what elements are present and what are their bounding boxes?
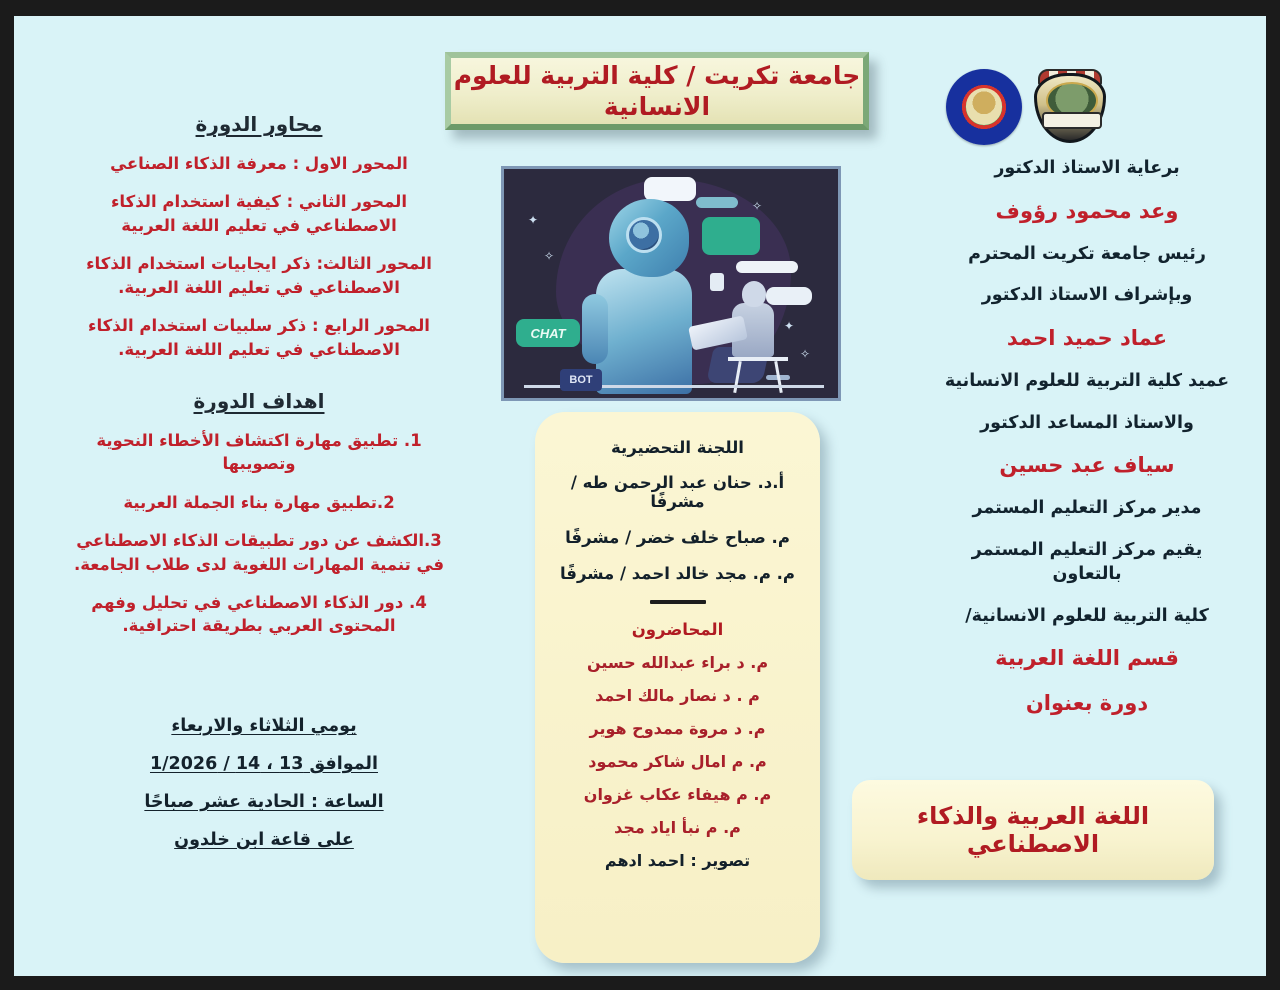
photo-credit: تصوير : احمد ادهم: [551, 851, 804, 870]
lecturer-item: م . د نصار مالك احمد: [551, 686, 804, 705]
committee-member: م. م. مجد خالد احمد / مشرفًا: [551, 564, 804, 583]
objectives-title: اهداف الدورة: [64, 389, 454, 413]
schedule-days: يومي الثلاثاء والاربعاء: [134, 716, 394, 736]
ministry-shield-emblem-icon: [1028, 67, 1112, 147]
right-column: برعاية الاستاذ الدكتور وعد محمود رؤوف رئ…: [942, 156, 1232, 734]
schedule-date: الموافق 13 ، 14 / 1/2026: [134, 754, 394, 774]
assistant-prefix: والاستاذ المساعد الدكتور: [942, 411, 1232, 436]
lecturer-item: م. م امال شاكر محمود: [551, 752, 804, 771]
course-label: دورة بعنوان: [942, 690, 1232, 717]
lecturers-heading: المحاضرون: [551, 620, 804, 639]
course-title-banner: اللغة العربية والذكاء الاصطناعي: [852, 780, 1214, 880]
topic-item: المحور الثالث: ذكر ايجابيات استخدام الذك…: [64, 252, 454, 299]
department-line: قسم اللغة العربية: [942, 645, 1232, 672]
objective-item: 1. تطبيق مهارة اكتشاف الأخطاء النحوية وت…: [64, 429, 454, 476]
college-line: كلية التربية للعلوم الانسانية/: [942, 604, 1232, 629]
header-banner-text: جامعة تكريت / كلية التربية للعلوم الانسا…: [451, 60, 863, 123]
schedule-venue: على قاعة ابن خلدون: [134, 830, 394, 850]
course-title-text: اللغة العربية والذكاء الاصطناعي: [852, 802, 1214, 858]
committee-member: أ.د. حنان عبد الرحمن طه / مشرفًا: [551, 473, 804, 511]
supervisor-prefix: وبإشراف الاستاذ الدكتور: [942, 283, 1232, 308]
ai-chatbot-illustration: ✦ ✧ ✧ ✦ ✧ · CHAT BOT: [501, 166, 841, 401]
poster-frame: جامعة تكريت / كلية التربية للعلوم الانسا…: [0, 0, 1280, 990]
topic-item: المحور الاول : معرفة الذكاء الصناعي: [64, 152, 454, 175]
patron-name: وعد محمود رؤوف: [942, 198, 1232, 225]
objective-item: 3.الكشف عن دور تطبيقات الذكاء الاصطناعي …: [64, 529, 454, 576]
lecturer-item: م. د مروة ممدوح هوير: [551, 719, 804, 738]
topics-title: محاور الدورة: [64, 112, 454, 136]
tikrit-university-emblem-icon: [946, 69, 1022, 145]
patron-prefix: برعاية الاستاذ الدكتور: [942, 156, 1232, 181]
schedule-time: الساعة : الحادية عشر صباحًا: [134, 792, 394, 812]
patron-role: رئيس جامعة تكريت المحترم: [942, 242, 1232, 267]
lecturer-item: م. د براء عبدالله حسين: [551, 653, 804, 672]
assistant-role: مدير مركز التعليم المستمر: [942, 496, 1232, 521]
logo-group: [937, 64, 1112, 149]
committee-member: م. صباح خلف خضر / مشرفًا: [551, 528, 804, 547]
lecturer-item: م. م هيفاء عكاب غزوان: [551, 785, 804, 804]
bot-label: BOT: [560, 369, 602, 391]
left-column: محاور الدورة المحور الاول : معرفة الذكاء…: [64, 112, 454, 653]
topic-item: المحور الثاني : كيفية استخدام الذكاء الا…: [64, 190, 454, 237]
objective-item: 4. دور الذكاء الاصطناعي في تحليل وفهم ال…: [64, 591, 454, 638]
schedule-block: يومي الثلاثاء والاربعاء الموافق 13 ، 14 …: [134, 716, 394, 868]
lecturer-item: م. م نبأ اياد مجد: [551, 818, 804, 837]
supervisor-name: عماد حميد احمد: [942, 325, 1232, 352]
committee-card: اللجنة التحضيرية أ.د. حنان عبد الرحمن طه…: [535, 412, 820, 963]
header-banner: جامعة تكريت / كلية التربية للعلوم الانسا…: [445, 52, 869, 130]
topic-item: المحور الرابع : ذكر سلبيات استخدام الذكا…: [64, 314, 454, 361]
objective-item: 2.تطبيق مهارة بناء الجملة العربية: [64, 491, 454, 514]
chat-label: CHAT: [516, 319, 580, 347]
poster-canvas: جامعة تكريت / كلية التربية للعلوم الانسا…: [14, 16, 1266, 976]
committee-heading: اللجنة التحضيرية: [551, 438, 804, 457]
organizer-line: يقيم مركز التعليم المستمر بالتعاون: [942, 538, 1232, 587]
supervisor-role: عميد كلية التربية للعلوم الانسانية: [942, 369, 1232, 394]
section-divider: [650, 600, 706, 604]
assistant-name: سياف عبد حسين: [942, 452, 1232, 479]
